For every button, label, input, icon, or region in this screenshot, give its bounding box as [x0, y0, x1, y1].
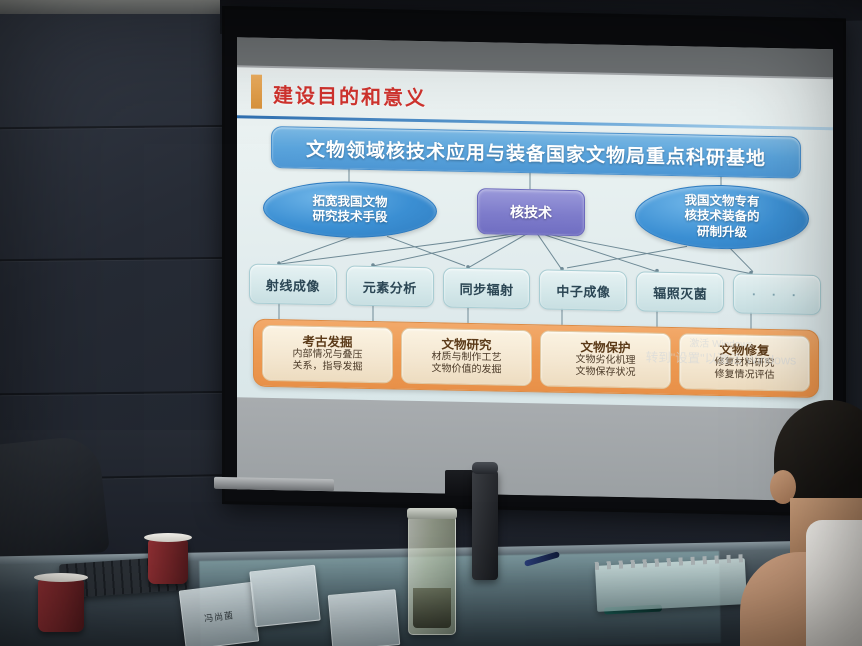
goal-node-left: 拓宽我国文物研究技术手段: [263, 180, 437, 239]
technique-label: 中子成像: [556, 280, 610, 300]
technique-more-label: · · ·: [752, 286, 802, 302]
name-placard: [249, 565, 320, 628]
application-sub-2: 文物价值的发掘: [432, 363, 502, 377]
technique-row: 射线成像 元素分析 同步辐射 中子成像 辐照灭菌 · · ·: [249, 264, 821, 315]
technique-box-more: · · ·: [733, 273, 821, 315]
placard-name: 冯尚菌: [203, 608, 234, 625]
presentation-slide: 建设目的和意义: [237, 67, 833, 409]
notebook: [595, 558, 747, 612]
application-title: 文物修复: [719, 343, 769, 358]
application-title: 文物保护: [580, 340, 630, 355]
application-card: 文物研究 材质与制作工艺 文物价值的发掘: [401, 328, 532, 387]
screen-bottom-roller: [214, 477, 334, 491]
microphone-head: [472, 462, 498, 474]
tea-leaves: [413, 588, 451, 628]
base-title-text: 文物领域核技术应用与装备国家文物局重点科研基地: [306, 134, 766, 170]
goal-right-text: 我国文物专有核技术装备的研制升级: [684, 193, 759, 240]
technique-label: 辐照灭菌: [653, 282, 707, 302]
technique-box: 射线成像: [249, 264, 337, 306]
conference-room-scene: 建设目的和意义: [0, 0, 862, 646]
base-title-banner: 文物领域核技术应用与装备国家文物局重点科研基地: [271, 126, 801, 179]
application-card: 考古发掘 内部情况与叠压 关系，指导发掘: [262, 325, 393, 384]
projection-screen: 建设目的和意义: [222, 6, 846, 517]
attendee-shirt: [806, 520, 862, 646]
application-sub-2: 文物保存状况: [576, 366, 636, 379]
slide-title: 建设目的和意义: [273, 79, 427, 111]
office-chair: [0, 434, 110, 564]
technique-label: 同步辐射: [460, 278, 514, 298]
application-title: 考古发掘: [302, 334, 352, 349]
projection-surface: 建设目的和意义: [237, 37, 833, 501]
paper-cup: [148, 540, 188, 584]
technique-label: 元素分析: [363, 276, 417, 296]
application-title: 文物研究: [441, 337, 491, 352]
application-card: 文物保护 文物劣化机理 文物保存状况: [540, 330, 671, 389]
technique-box: 元素分析: [346, 265, 434, 307]
application-sub-2: 关系，指导发掘: [293, 361, 363, 375]
technique-box: 同步辐射: [443, 267, 531, 309]
technique-label: 射线成像: [266, 274, 320, 294]
tea-jar: [408, 515, 456, 635]
name-placard: [328, 589, 401, 646]
header-accent-bar: [251, 75, 262, 109]
application-band: 考古发掘 内部情况与叠压 关系，指导发掘 文物研究 材质与制作工艺 文物价值的发…: [253, 319, 819, 398]
screen-weight-bar: [445, 470, 473, 496]
core-technology-node: 核技术: [477, 188, 585, 236]
goal-node-right: 我国文物专有核技术装备的研制升级: [635, 183, 809, 250]
goal-left-text: 拓宽我国文物研究技术手段: [312, 194, 387, 226]
application-sub-2: 修复情况评估: [715, 369, 775, 382]
application-row: 考古发掘 内部情况与叠压 关系，指导发掘 文物研究 材质与制作工艺 文物价值的发…: [262, 325, 810, 392]
paper-cup: [38, 580, 84, 632]
slide-body: 文物领域核技术应用与装备国家文物局重点科研基地 拓宽我国文物研究技术手段 核技术…: [237, 115, 833, 409]
name-placard: 冯尚菌: [179, 582, 260, 646]
tea-jar-lid: [407, 508, 457, 519]
technique-box: 中子成像: [539, 269, 627, 311]
core-technology-label: 核技术: [510, 202, 552, 223]
application-card: 文物修复 修复材料研究 修复情况评估: [679, 333, 810, 392]
technique-box: 辐照灭菌: [636, 271, 724, 313]
microphone: [472, 470, 498, 580]
